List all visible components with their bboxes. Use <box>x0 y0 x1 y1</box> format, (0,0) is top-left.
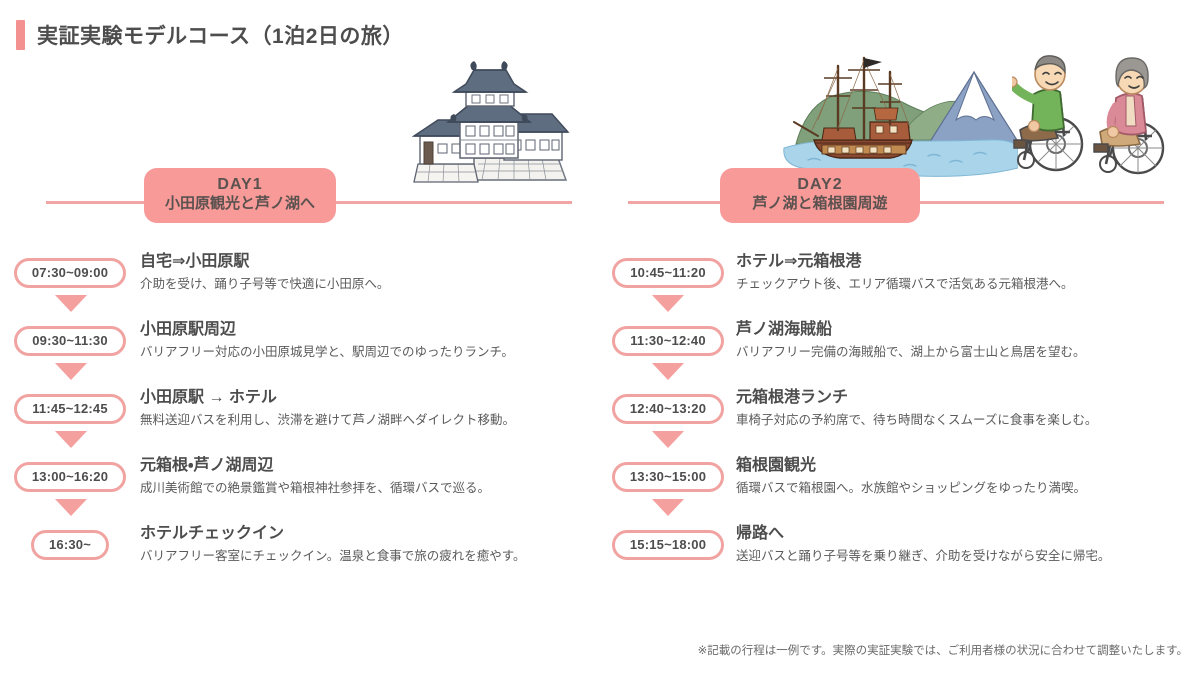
time-pill: 09:30~11:30 <box>14 326 126 356</box>
time-pill: 11:45~12:45 <box>14 394 126 424</box>
down-arrow-icon <box>55 295 87 312</box>
time-pill: 13:00~16:20 <box>14 462 126 492</box>
timeline-title: ホテル⇒元箱根港 <box>736 252 1200 273</box>
timeline-text: 元箱根・芦ノ湖周辺 成川美術館での絶景鑑賞や箱根神社参拝を、循環バスで巡る。 <box>140 452 600 497</box>
timeline-item: 16:30~ ホテルチェックイン バリアフリー客室にチェックイン。温泉と食事で旅… <box>0 520 600 588</box>
timeline-text: 自宅⇒小田原駅 介助を受け、踊り子号等で快適に小田原へ。 <box>140 248 600 293</box>
down-arrow-icon <box>55 499 87 516</box>
timeline-day2: 10:45~11:20 ホテル⇒元箱根港 チェックアウト後、エリア循環バスで活気… <box>600 248 1200 588</box>
timeline-title: 箱根園観光 <box>736 456 1200 477</box>
time-pill: 13:30~15:00 <box>612 462 724 492</box>
time-pill: 07:30~09:00 <box>14 258 126 288</box>
time-pill-wrap: 13:30~15:00 <box>600 452 736 492</box>
timeline-title: 芦ノ湖海賊船 <box>736 320 1200 341</box>
down-arrow-icon <box>652 295 684 312</box>
wheelchair-users-icon <box>1012 44 1192 184</box>
timeline-title: ホテルチェックイン <box>140 524 600 545</box>
illustration-zone-day1 <box>0 38 600 188</box>
down-arrow-icon <box>652 499 684 516</box>
timeline-title: 小田原駅周辺 <box>140 320 600 341</box>
day-band-day1: DAY1 小田原観光と芦ノ湖へ <box>0 168 600 226</box>
timeline-description: バリアフリー対応の小田原城見学と、駅周辺でのゆったりランチ。 <box>140 344 600 361</box>
timeline-item: 09:30~11:30 小田原駅周辺 バリアフリー対応の小田原城見学と、駅周辺で… <box>0 316 600 384</box>
timeline-description: 送迎バスと踊り子号等を乗り継ぎ、介助を受けながら安全に帰宅。 <box>736 548 1200 565</box>
time-pill-wrap: 16:30~ <box>0 520 140 560</box>
timeline-title: 帰路へ <box>736 524 1200 545</box>
timeline-item: 13:00~16:20 元箱根・芦ノ湖周辺 成川美術館での絶景鑑賞や箱根神社参拝… <box>0 452 600 520</box>
timeline-text: 元箱根港ランチ 車椅子対応の予約席で、待ち時間なくスムーズに食事を楽しむ。 <box>736 384 1200 429</box>
time-pill-wrap: 12:40~13:20 <box>600 384 736 424</box>
day-band-day2: DAY2 芦ノ湖と箱根園周遊 <box>600 168 1200 226</box>
lake-ashi-pirate-ship-mount-fuji-icon <box>778 44 1018 184</box>
timeline-text: 帰路へ 送迎バスと踊り子号等を乗り継ぎ、介助を受けながら安全に帰宅。 <box>736 520 1200 565</box>
timeline-description: 無料送迎バスを利用し、渋滞を避けて芦ノ湖畔へダイレクト移動。 <box>140 412 600 429</box>
timeline-description: 循環バスで箱根園へ。水族館やショッピングをゆったり満喫。 <box>736 480 1200 497</box>
timeline-day1: 07:30~09:00 自宅⇒小田原駅 介助を受け、踊り子号等で快適に小田原へ。… <box>0 248 600 588</box>
time-pill: 11:30~12:40 <box>612 326 724 356</box>
time-pill: 10:45~11:20 <box>612 258 724 288</box>
timeline-title: 自宅⇒小田原駅 <box>140 252 600 273</box>
down-arrow-icon <box>652 363 684 380</box>
timeline-item: 07:30~09:00 自宅⇒小田原駅 介助を受け、踊り子号等で快適に小田原へ。 <box>0 248 600 316</box>
timeline-description: バリアフリー客室にチェックイン。温泉と食事で旅の疲れを癒やす。 <box>140 548 600 565</box>
timeline-item: 15:15~18:00 帰路へ 送迎バスと踊り子号等を乗り継ぎ、介助を受けながら… <box>600 520 1200 588</box>
day-subtitle: 芦ノ湖と箱根園周遊 <box>720 195 920 214</box>
time-pill-wrap: 15:15~18:00 <box>600 520 736 560</box>
timeline-description: チェックアウト後、エリア循環バスで活気ある元箱根港へ。 <box>736 276 1200 293</box>
timeline-text: 箱根園観光 循環バスで箱根園へ。水族館やショッピングをゆったり満喫。 <box>736 452 1200 497</box>
time-pill-wrap: 11:30~12:40 <box>600 316 736 356</box>
day-badge-day1: DAY1 小田原観光と芦ノ湖へ <box>144 168 336 223</box>
day-label: DAY1 <box>144 175 336 195</box>
timeline-description: バリアフリー完備の海賊船で、湖上から富士山と鳥居を望む。 <box>736 344 1200 361</box>
footnote: ※記載の行程は一例です。実際の実証実験では、ご利用者様の状況に合わせて調整いたし… <box>698 642 1188 658</box>
timeline-text: 芦ノ湖海賊船 バリアフリー完備の海賊船で、湖上から富士山と鳥居を望む。 <box>736 316 1200 361</box>
illustration-zone-day2 <box>600 38 1200 188</box>
timeline-item: 10:45~11:20 ホテル⇒元箱根港 チェックアウト後、エリア循環バスで活気… <box>600 248 1200 316</box>
down-arrow-icon <box>652 431 684 448</box>
day-label: DAY2 <box>720 175 920 195</box>
time-pill-wrap: 07:30~09:00 <box>0 248 140 288</box>
down-arrow-icon <box>55 431 87 448</box>
timeline-text: 小田原駅 → ホテル 無料送迎バスを利用し、渋滞を避けて芦ノ湖畔へダイレクト移動… <box>140 384 600 429</box>
timeline-title: 小田原駅 → ホテル <box>140 388 600 409</box>
day-column-day1: DAY1 小田原観光と芦ノ湖へ 07:30~09:00 自宅⇒小田原駅 介助を受… <box>0 0 600 640</box>
time-pill-wrap: 09:30~11:30 <box>0 316 140 356</box>
day-column-day2: DAY2 芦ノ湖と箱根園周遊 10:45~11:20 ホテル⇒元箱根港 チェック… <box>600 0 1200 640</box>
day-columns: DAY1 小田原観光と芦ノ湖へ 07:30~09:00 自宅⇒小田原駅 介助を受… <box>0 0 1200 676</box>
down-arrow-icon <box>55 363 87 380</box>
time-pill: 15:15~18:00 <box>612 530 724 560</box>
timeline-title: 元箱根港ランチ <box>736 388 1200 409</box>
day-subtitle: 小田原観光と芦ノ湖へ <box>144 195 336 214</box>
timeline-text: 小田原駅周辺 バリアフリー対応の小田原城見学と、駅周辺でのゆったりランチ。 <box>140 316 600 361</box>
time-pill-wrap: 11:45~12:45 <box>0 384 140 424</box>
timeline-description: 車椅子対応の予約席で、待ち時間なくスムーズに食事を楽しむ。 <box>736 412 1200 429</box>
timeline-text: ホテル⇒元箱根港 チェックアウト後、エリア循環バスで活気ある元箱根港へ。 <box>736 248 1200 293</box>
timeline-item: 11:45~12:45 小田原駅 → ホテル 無料送迎バスを利用し、渋滞を避けて… <box>0 384 600 452</box>
timeline-description: 成川美術館での絶景鑑賞や箱根神社参拝を、循環バスで巡る。 <box>140 480 600 497</box>
timeline-description: 介助を受け、踊り子号等で快適に小田原へ。 <box>140 276 600 293</box>
time-pill: 12:40~13:20 <box>612 394 724 424</box>
timeline-text: ホテルチェックイン バリアフリー客室にチェックイン。温泉と食事で旅の疲れを癒やす… <box>140 520 600 565</box>
day-badge-day2: DAY2 芦ノ湖と箱根園周遊 <box>720 168 920 223</box>
time-pill-wrap: 13:00~16:20 <box>0 452 140 492</box>
timeline-title: 元箱根・芦ノ湖周辺 <box>140 456 600 477</box>
time-pill: 16:30~ <box>31 530 109 560</box>
time-pill-wrap: 10:45~11:20 <box>600 248 736 288</box>
timeline-item: 12:40~13:20 元箱根港ランチ 車椅子対応の予約席で、待ち時間なくスムー… <box>600 384 1200 452</box>
timeline-item: 13:30~15:00 箱根園観光 循環バスで箱根園へ。水族館やショッピングをゆ… <box>600 452 1200 520</box>
timeline-item: 11:30~12:40 芦ノ湖海賊船 バリアフリー完備の海賊船で、湖上から富士山… <box>600 316 1200 384</box>
